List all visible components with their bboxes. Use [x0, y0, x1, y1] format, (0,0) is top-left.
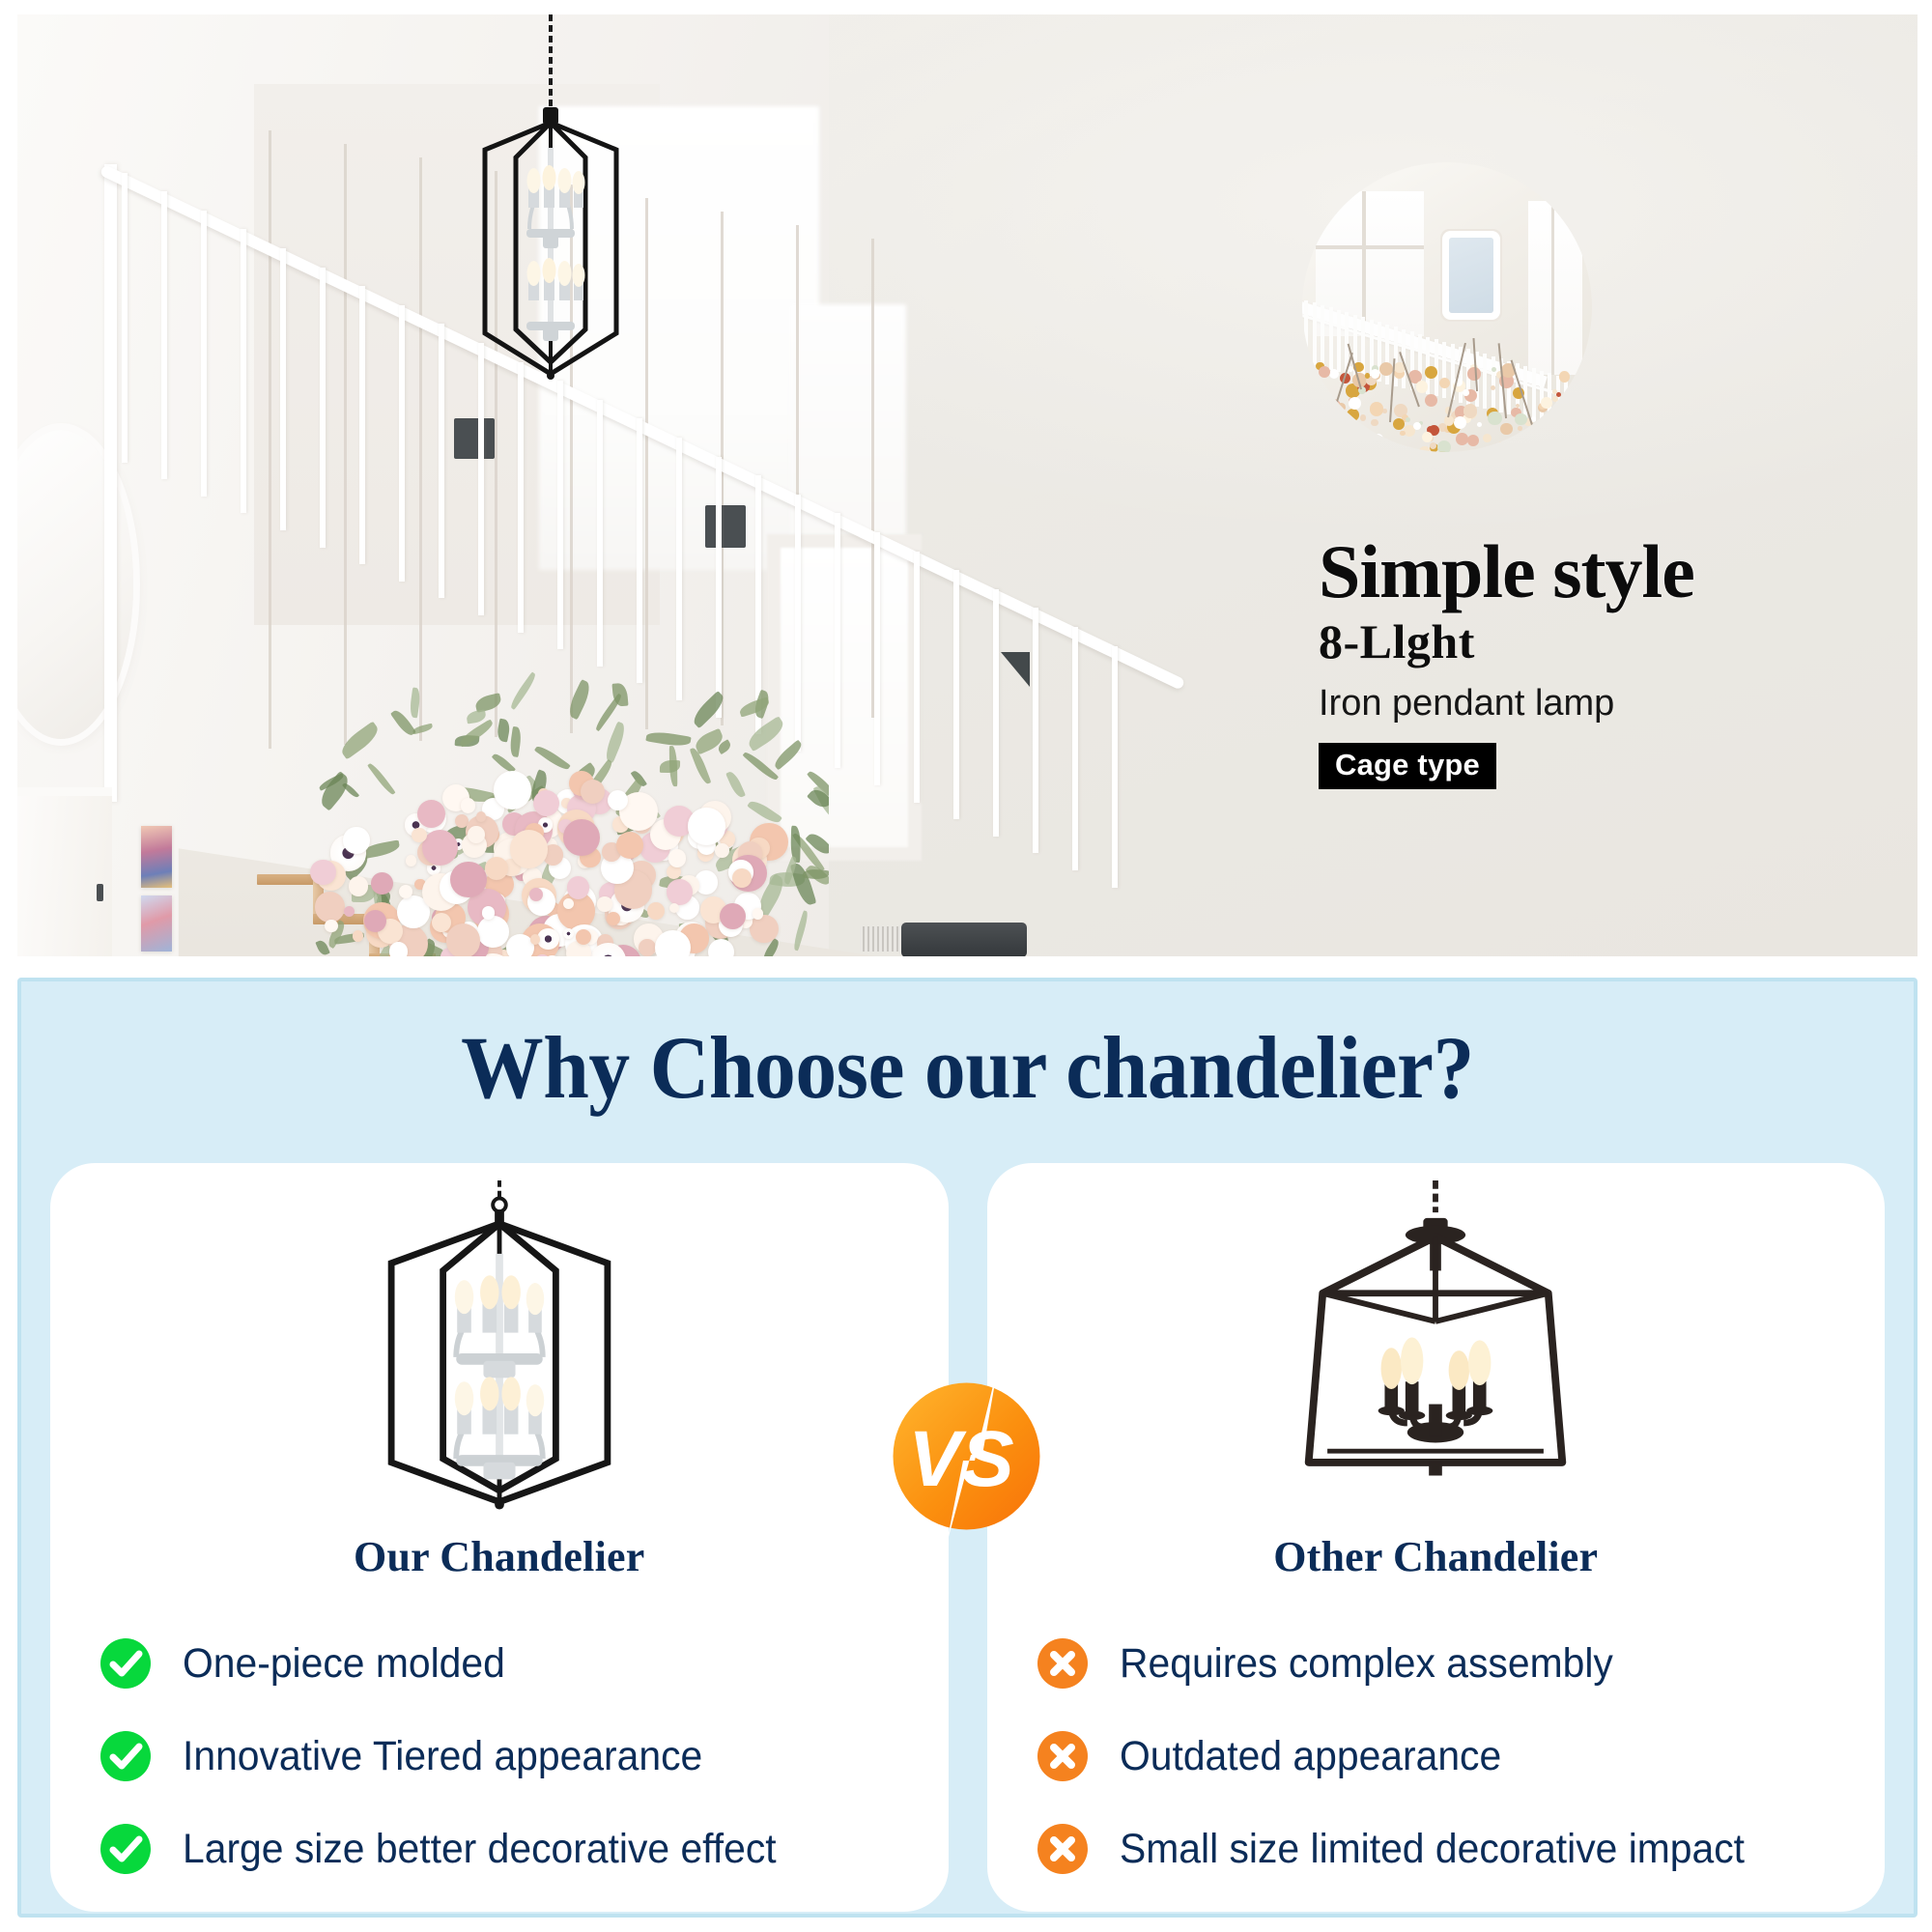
card-other-chandelier: Other Chandelier Requires complex assemb… [987, 1163, 1886, 1912]
inset-flower [1552, 396, 1558, 402]
baluster [241, 229, 246, 513]
inset-baluster [1532, 368, 1536, 420]
cross-icon [1037, 1638, 1088, 1689]
flower-blossom [667, 879, 693, 905]
flower-blossom [655, 930, 690, 956]
flower-blossom [389, 942, 408, 956]
lower-door [17, 787, 112, 956]
foliage-leaf [603, 721, 630, 763]
foliage-leaf [745, 716, 788, 753]
inset-flower [1439, 378, 1450, 388]
inset-flower [1437, 440, 1452, 452]
foliage-leaf [409, 687, 421, 718]
flower-blossom [607, 912, 620, 925]
inset-framed-mirror [1449, 238, 1493, 313]
flower-blossom [530, 934, 540, 944]
foliage-leaf [534, 744, 570, 773]
flower-blossom [510, 830, 548, 867]
cross-icon [1037, 1731, 1088, 1781]
flower-blossom [494, 771, 532, 810]
flower-blossom [364, 910, 386, 932]
inset-baluster [1313, 302, 1317, 365]
flower-blossom [325, 920, 337, 932]
flower-blossom [477, 916, 508, 947]
flower-blossom [668, 849, 687, 867]
foliage-leaf [508, 726, 522, 757]
other-chandelier-bullets: Requires complex assembly Outdated appea… [1037, 1617, 1857, 1895]
baluster [835, 513, 840, 768]
inset-flower [1305, 440, 1309, 443]
list-item: Innovative Tiered appearance [100, 1710, 920, 1803]
bullet-label: Innovative Tiered appearance [183, 1733, 702, 1780]
baluster [1072, 627, 1078, 870]
other-chandelier-image [987, 1180, 1886, 1528]
inset-flower [1516, 437, 1520, 441]
inset-flower [1541, 397, 1552, 409]
baluster [1033, 608, 1038, 853]
inset-flower [1590, 405, 1592, 414]
foliage-leaf [508, 671, 539, 710]
flower-blossom [406, 855, 417, 867]
hero-caption: Simple style 8-Llght Iron pendant lamp C… [1319, 536, 1898, 789]
inset-flower [1336, 440, 1343, 446]
foliage-leaf [564, 679, 593, 720]
other-chandelier-svg [1276, 1180, 1595, 1528]
baluster [439, 324, 444, 598]
hero-chandelier [473, 14, 628, 391]
inset-flower [1345, 416, 1353, 425]
flower-blossom [567, 876, 589, 898]
inset-mullion-v1 [1362, 191, 1366, 336]
hero-subtitle: 8-Llght [1319, 611, 1898, 673]
flower-blossom [616, 832, 643, 859]
list-item: One-piece molded [100, 1617, 920, 1710]
flower-blossom [581, 780, 605, 804]
flower-blossom [476, 811, 487, 822]
flower-blossom [310, 860, 335, 885]
inset-flower [1559, 371, 1570, 382]
foliage-leaf [725, 770, 746, 800]
list-item: Requires complex assembly [1037, 1617, 1857, 1710]
inset-window-right [1528, 201, 1582, 375]
inset-flower [1483, 434, 1492, 442]
inset-flower [1371, 369, 1380, 379]
wall-artwork-1 [141, 826, 172, 888]
baluster [201, 211, 207, 497]
flower-blossom [450, 862, 487, 898]
flower-blossom [647, 902, 665, 920]
flower-blossom [669, 903, 679, 913]
inset-flower [1360, 414, 1366, 420]
inset-baluster [1483, 354, 1487, 409]
bulb-tier-upper [527, 165, 585, 208]
flower-blossom [563, 898, 574, 909]
inset-flower [1542, 419, 1548, 426]
inset-flower [1425, 366, 1437, 379]
baluster [399, 305, 405, 582]
bullet-label: Large size better decorative effect [183, 1826, 777, 1873]
cage-type-badge: Cage type [1319, 743, 1496, 789]
baluster [953, 570, 959, 819]
inset-baluster [1329, 307, 1333, 369]
comparison-title: Why Choose our chandelier? [88, 1023, 1848, 1112]
flower-blossom [639, 939, 656, 956]
vs-badge: VS [882, 1372, 1051, 1541]
product-marketing-page: Simple style 8-Llght Iron pendant lamp C… [0, 0, 1932, 1932]
inset-flower [1419, 446, 1431, 452]
floral-arrangement [307, 575, 829, 956]
baluster [280, 248, 286, 530]
check-icon [100, 1638, 151, 1689]
hero-description: Iron pendant lamp [1319, 679, 1898, 728]
baluster [161, 191, 167, 479]
flower-blossom [537, 928, 558, 950]
inset-flower [1349, 397, 1361, 410]
baluster [874, 532, 880, 785]
bullet-label: One-piece molded [183, 1640, 505, 1688]
flower-blossom [446, 923, 480, 956]
flower-blossom [432, 913, 451, 932]
inset-flower [1518, 426, 1522, 431]
inset-flower [1422, 432, 1433, 442]
inset-flower [1586, 379, 1592, 390]
inset-flower [1371, 419, 1378, 426]
flower-blossom [753, 908, 764, 920]
flower-blossom [343, 827, 369, 853]
bullet-label: Outdated appearance [1120, 1733, 1501, 1780]
foliage-leaf [367, 761, 395, 796]
inset-flower [1321, 398, 1328, 406]
foliage-leaf [791, 910, 810, 951]
inset-flower [1580, 403, 1585, 408]
foliage-leaf [645, 729, 691, 748]
inset-flower [1425, 394, 1437, 407]
baluster [914, 552, 920, 803]
flower-blossom [468, 826, 485, 843]
foliage-leaf [496, 718, 511, 742]
flower-blossom [597, 896, 612, 912]
foliage-leaf [743, 750, 779, 782]
baluster [320, 268, 326, 548]
inset-flower [1391, 445, 1402, 452]
inset-flower [1309, 446, 1321, 452]
inset-circular-photo [1302, 162, 1592, 452]
inset-baluster [1304, 300, 1308, 364]
baluster [993, 589, 999, 837]
flower-blossom [349, 876, 369, 896]
flower-blossom [708, 939, 734, 956]
inset-flower [1348, 451, 1352, 452]
inset-flower [1524, 435, 1534, 444]
list-item: Outdated appearance [1037, 1710, 1857, 1803]
check-icon [100, 1824, 151, 1874]
foliage-leaf [772, 740, 805, 771]
our-chandelier-svg [355, 1180, 644, 1528]
our-chandelier-heading: Our Chandelier [50, 1532, 949, 1581]
list-item: Large size better decorative effect [100, 1803, 920, 1895]
flower-blossom [371, 872, 393, 895]
baluster [1112, 646, 1118, 888]
inset-baluster [1321, 305, 1324, 368]
our-chandelier-bullets: One-piece molded Innovative Tiered appea… [100, 1617, 920, 1895]
railing-newel-post [104, 164, 117, 802]
flower-blossom [482, 906, 496, 920]
door-handle [97, 884, 103, 901]
flower-blossom [563, 819, 600, 856]
hero-title: Simple style [1319, 536, 1898, 607]
hero-banner: Simple style 8-Llght Iron pendant lamp C… [17, 14, 1918, 956]
flower-blossom [422, 830, 458, 866]
chandelier-cage-svg [473, 14, 628, 391]
list-item: Small size limited decorative impact [1037, 1803, 1857, 1895]
flower-blossom [608, 790, 628, 810]
inset-flower [1467, 435, 1479, 446]
inset-flower [1575, 430, 1580, 436]
our-chandelier-image [50, 1180, 949, 1528]
flower-blossom [315, 892, 345, 922]
inset-flower [1393, 418, 1405, 430]
entry-bench [901, 923, 1027, 956]
inset-baluster [1337, 310, 1341, 372]
flower-blossom [461, 798, 475, 812]
inset-flower [1551, 420, 1564, 433]
flower-blossom [412, 828, 426, 842]
inset-flower [1488, 412, 1501, 425]
inset-mullion-h1 [1316, 245, 1424, 249]
inset-flower [1590, 439, 1592, 452]
inset-flower [1575, 440, 1588, 452]
foliage-leaf [690, 691, 728, 728]
flower-blossom [344, 906, 355, 917]
bullet-label: Small size limited decorative impact [1120, 1826, 1745, 1873]
inset-flower [1317, 413, 1325, 422]
foliage-leaf [337, 721, 382, 759]
inset-flower [1552, 389, 1557, 394]
bullet-label: Requires complex assembly [1120, 1640, 1613, 1688]
bulb-tier-lower [527, 258, 585, 300]
inset-flower [1456, 433, 1468, 445]
card-our-chandelier: Our Chandelier One-piece molded Innovati… [50, 1163, 949, 1912]
inset-flower [1502, 443, 1513, 452]
baluster [122, 173, 128, 463]
flower-blossom [688, 808, 724, 844]
other-chandelier-heading: Other Chandelier [987, 1532, 1886, 1581]
inset-flower [1552, 445, 1561, 452]
inset-baluster [1442, 342, 1446, 399]
cross-icon [1037, 1824, 1088, 1874]
baluster [359, 286, 365, 564]
inset-baluster [1492, 356, 1495, 411]
flower-blossom [353, 930, 364, 942]
check-icon [100, 1731, 151, 1781]
wall-artwork-2 [141, 895, 172, 952]
inset-mullion-v2 [1551, 201, 1554, 375]
